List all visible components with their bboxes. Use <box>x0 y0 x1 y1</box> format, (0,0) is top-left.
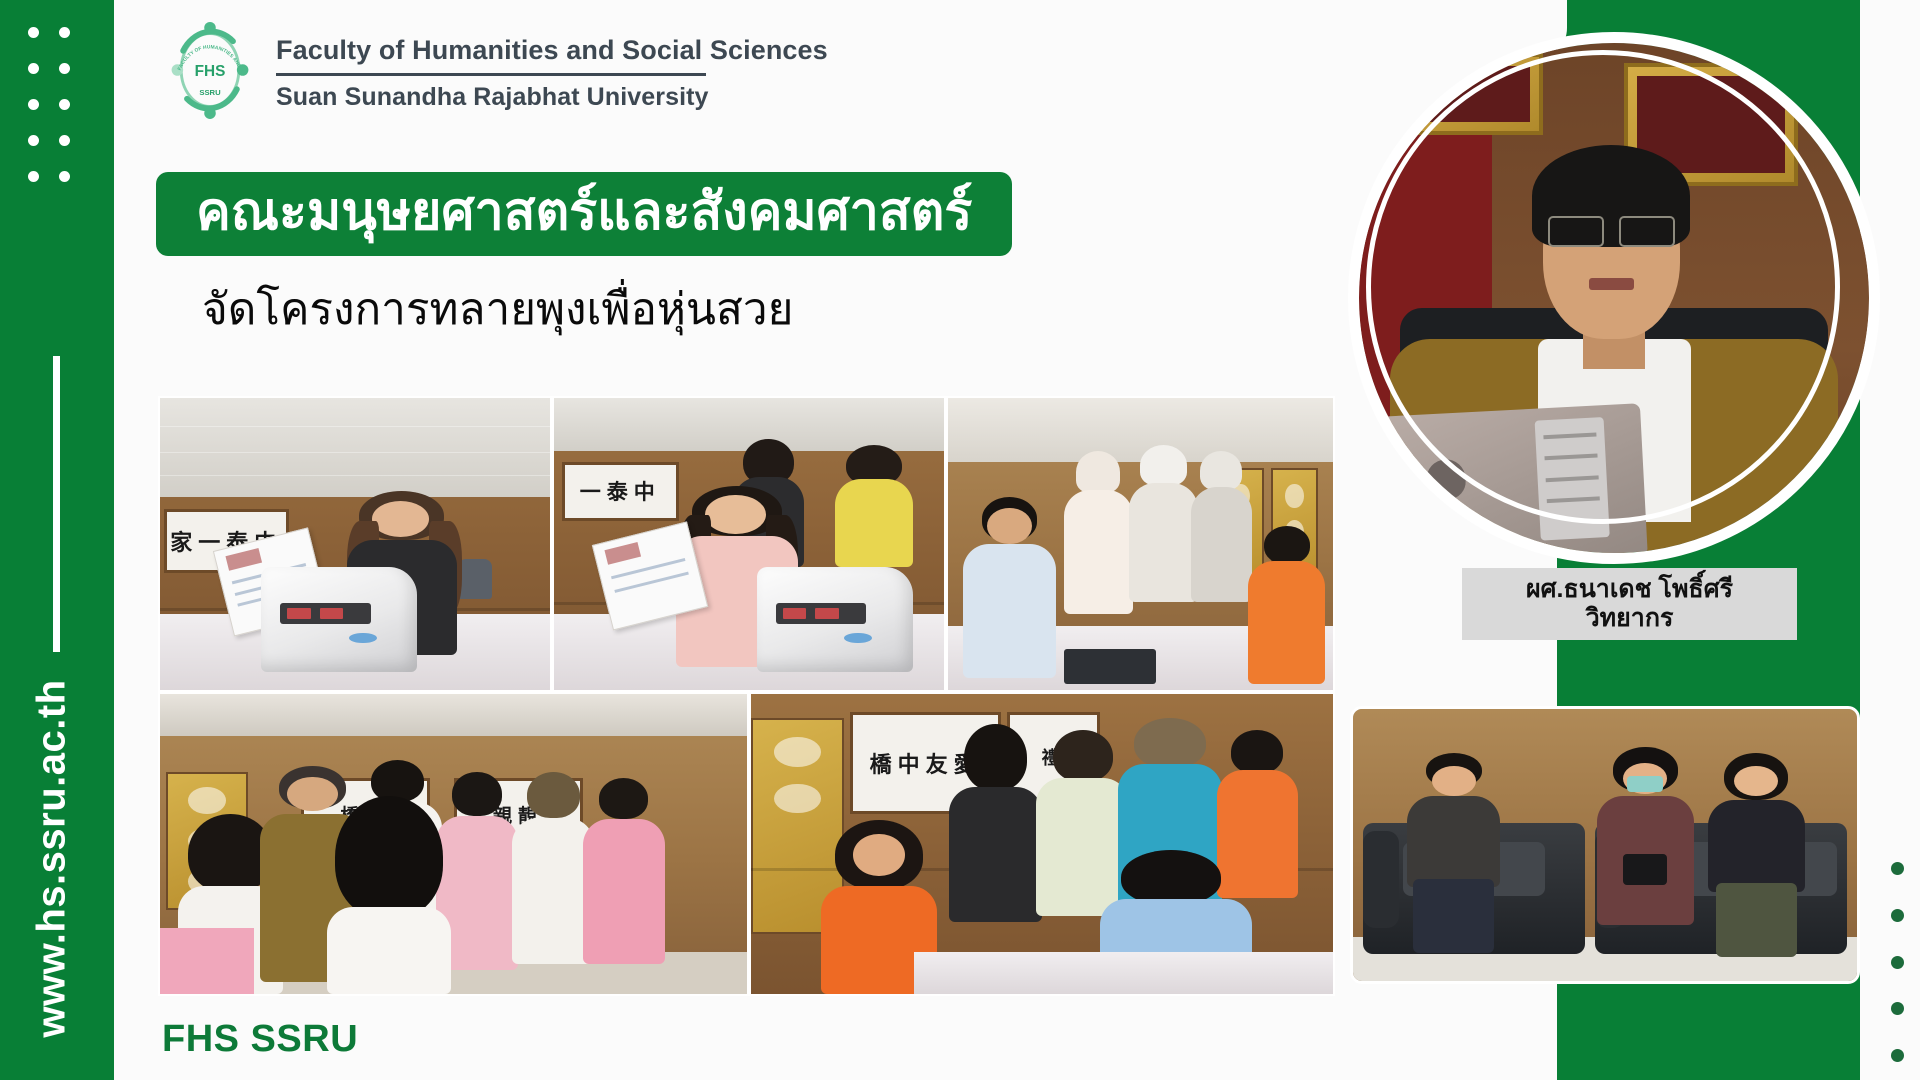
sidebar-dot-pattern <box>18 14 80 194</box>
sidebar-dot <box>59 99 70 110</box>
right-dot-pattern <box>1888 862 1906 1062</box>
sidebar-dot <box>28 27 39 38</box>
footer-label: FHS SSRU <box>162 1018 358 1061</box>
gallery-photo-1: 家一泰中 <box>158 396 552 692</box>
right-dot <box>1891 956 1904 969</box>
sidebar-dot <box>28 135 39 146</box>
gallery-photo-5: 橋中友愛 禮 <box>749 692 1335 996</box>
brand-divider <box>276 73 706 76</box>
sidebar-dot <box>59 27 70 38</box>
logo-icon: FHS SSRU FACULTY OF HUMANITIES AND SOCIA… <box>162 18 258 122</box>
svg-text:SSRU: SSRU <box>199 88 221 97</box>
sidebar-dot <box>59 171 70 182</box>
brand-text-block: Faculty of Humanities and Social Science… <box>276 29 828 112</box>
gallery-photo-3 <box>946 396 1335 692</box>
left-sidebar: www.hs.ssru.ac.th <box>0 0 114 1080</box>
gallery-photo-4: 橋中 親靚 <box>158 692 749 996</box>
portrait-image <box>1359 43 1869 553</box>
sidebar-dot <box>59 135 70 146</box>
title-banner: คณะมนุษยศาสตร์และสังคมศาสตร์ <box>156 172 1012 256</box>
speaker-portrait <box>1348 32 1880 564</box>
subtitle-text: จัดโครงการทลายพุงเพื่อหุ่นสวย <box>202 286 793 334</box>
svg-text:FHS: FHS <box>195 63 226 80</box>
right-dot <box>1891 909 1904 922</box>
banner-title-text: คณะมนุษยศาสตร์และสังคมศาสตร์ <box>196 186 972 238</box>
sidebar-dot <box>28 171 39 182</box>
speaker-role: วิทยากร <box>1586 604 1674 633</box>
photo-grid: 家一泰中 一泰中 <box>158 396 1335 996</box>
website-url[interactable]: www.hs.ssru.ac.th <box>30 539 75 1080</box>
sidebar-dot <box>59 63 70 74</box>
right-dot <box>1891 1002 1904 1015</box>
university-name: Suan Sunandha Rajabhat University <box>276 83 828 112</box>
right-dot <box>1891 1049 1904 1062</box>
gallery-photo-6 <box>1350 706 1860 984</box>
gallery-photo-2: 一泰中 <box>552 396 946 692</box>
sidebar-dot <box>28 63 39 74</box>
faculty-name: Faculty of Humanities and Social Science… <box>276 35 828 66</box>
fhs-ssru-logo: FHS SSRU FACULTY OF HUMANITIES AND SOCIA… <box>162 18 258 122</box>
speaker-name: ผศ.ธนาเดช โพธิ์ศรี <box>1526 575 1733 604</box>
speaker-name-card: ผศ.ธนาเดช โพธิ์ศรี วิทยากร <box>1462 568 1797 640</box>
sidebar-dot <box>28 99 39 110</box>
right-dot <box>1891 862 1904 875</box>
header: FHS SSRU FACULTY OF HUMANITIES AND SOCIA… <box>162 18 828 122</box>
